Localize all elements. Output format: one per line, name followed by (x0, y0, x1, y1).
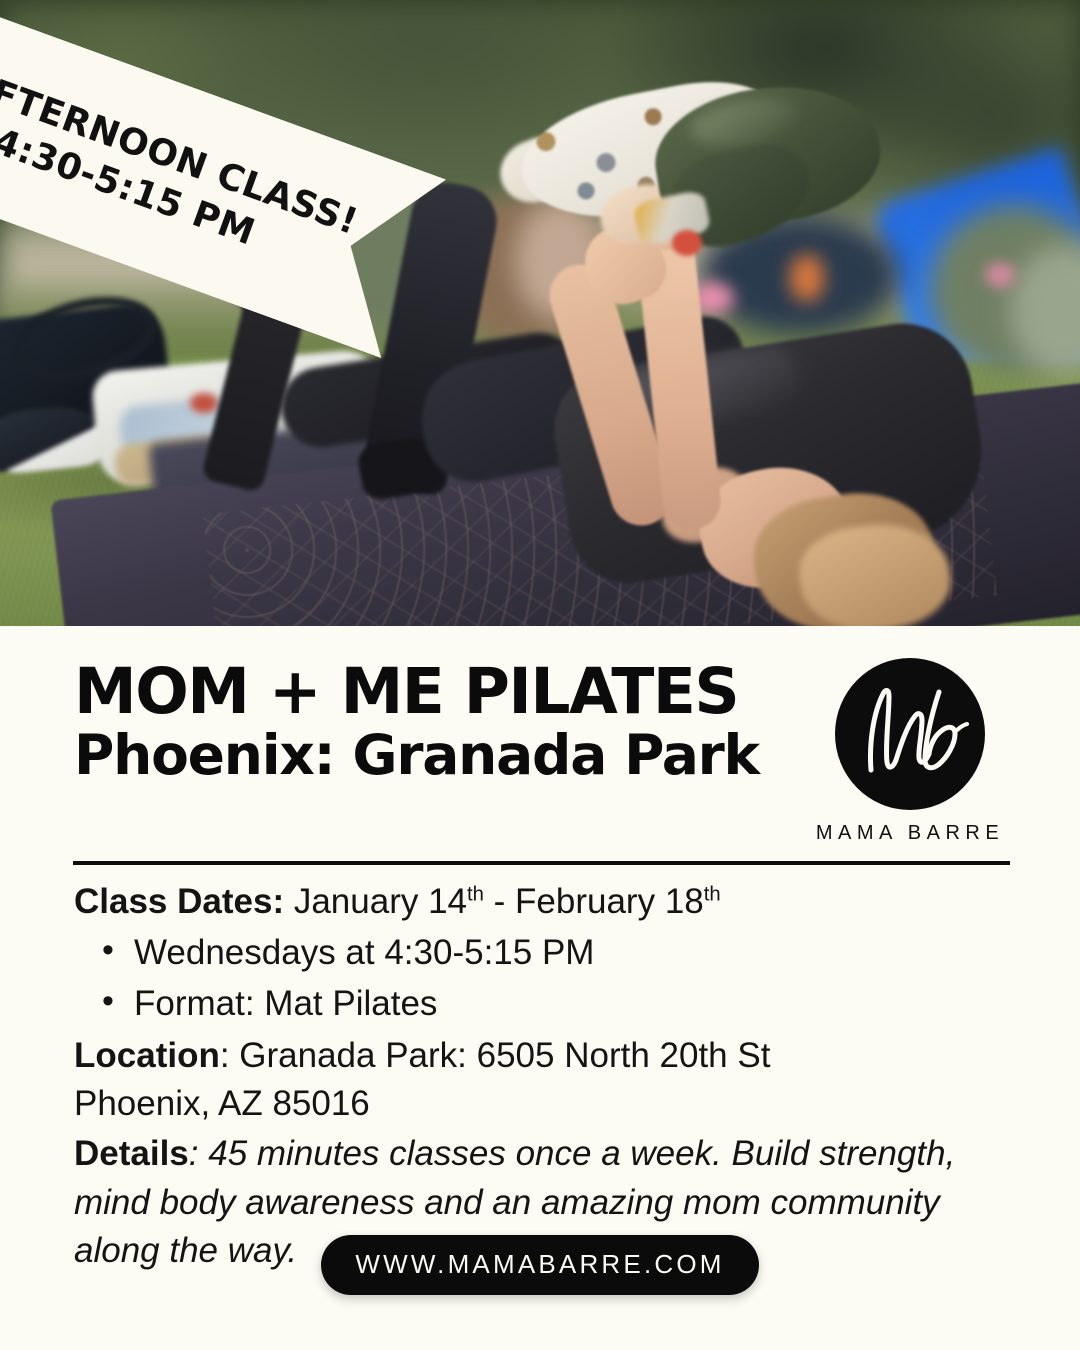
logo-wordmark: MAMA BARRE (816, 822, 1004, 845)
website-button[interactable]: WWW.MAMABARRE.COM (321, 1235, 758, 1295)
brand-logo: MAMA BARRE (812, 658, 1008, 845)
list-item: Format: Mat Pilates (102, 979, 1020, 1030)
location-label: Location (74, 1036, 220, 1075)
towel-red-spot (190, 393, 218, 413)
website-button-wrap: WWW.MAMABARRE.COM (0, 1235, 1080, 1295)
mb-monogram-icon (835, 658, 985, 810)
content-panel: MOM + ME PILATES Phoenix: Granada Park M… (0, 626, 1080, 1350)
title-group: MOM + ME PILATES Phoenix: Granada Park (74, 660, 759, 787)
location-line: Location: Granada Park: 6505 North 20th … (74, 1032, 1020, 1080)
location-line-2: Phoenix, AZ 85016 (74, 1080, 1020, 1128)
class-dates-label: Class Dates: (74, 882, 284, 921)
class-dates-sup-2: th (704, 883, 721, 905)
list-item: Wednesdays at 4:30-5:15 PM (102, 928, 1020, 979)
header-row: MOM + ME PILATES Phoenix: Granada Park M… (0, 626, 1080, 845)
logo-circle (835, 658, 985, 810)
class-dates-value-pre: January 14 (284, 882, 467, 921)
page-title: MOM + ME PILATES (74, 660, 759, 723)
schedule-bullets: Wednesdays at 4:30-5:15 PM Format: Mat P… (74, 928, 1020, 1030)
class-dates-mid: - February 18 (484, 882, 704, 921)
pink-object-2 (985, 263, 1015, 287)
baby-toy-red (672, 230, 702, 256)
class-dates-line: Class Dates: January 14th - February 18t… (74, 878, 1020, 926)
orange-object (790, 255, 824, 301)
location-value: : Granada Park: 6505 North 20th St (220, 1036, 771, 1075)
description-label: Details (74, 1134, 189, 1173)
poster: ☀️ AFTERNOON CLASS! 4:30-5:15 PM MOM + M… (0, 0, 1080, 1350)
page-subtitle: Phoenix: Granada Park (74, 725, 759, 787)
details-block: Class Dates: January 14th - February 18t… (0, 865, 1080, 1275)
class-dates-sup-1: th (467, 883, 484, 905)
